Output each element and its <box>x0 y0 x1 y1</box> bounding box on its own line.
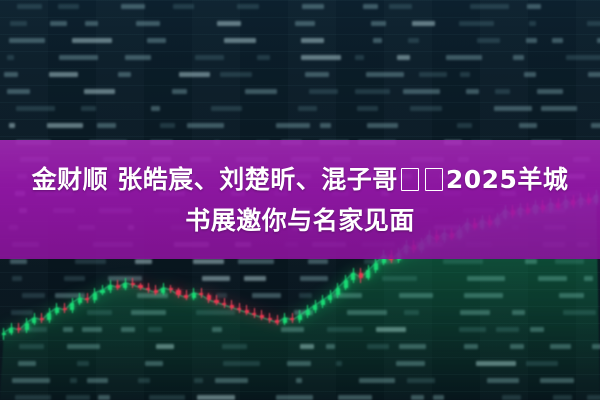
headline-line1-part1: 金财顺 张皓宸、刘楚昕、混子哥 <box>32 165 398 194</box>
missing-glyph-icon <box>425 168 443 191</box>
headline-text: 金财顺 张皓宸、刘楚昕、混子哥2025羊城 书展邀你与名家见面 <box>20 159 580 241</box>
headline-band: 金财顺 张皓宸、刘楚昕、混子哥2025羊城 书展邀你与名家见面 <box>0 140 600 259</box>
news-banner-image: 金财顺 张皓宸、刘楚昕、混子哥2025羊城 书展邀你与名家见面 <box>0 0 600 400</box>
headline-line1-part2: 2025羊城 <box>446 165 569 194</box>
missing-glyph-icon <box>401 168 419 191</box>
headline-line2: 书展邀你与名家见面 <box>20 200 580 241</box>
